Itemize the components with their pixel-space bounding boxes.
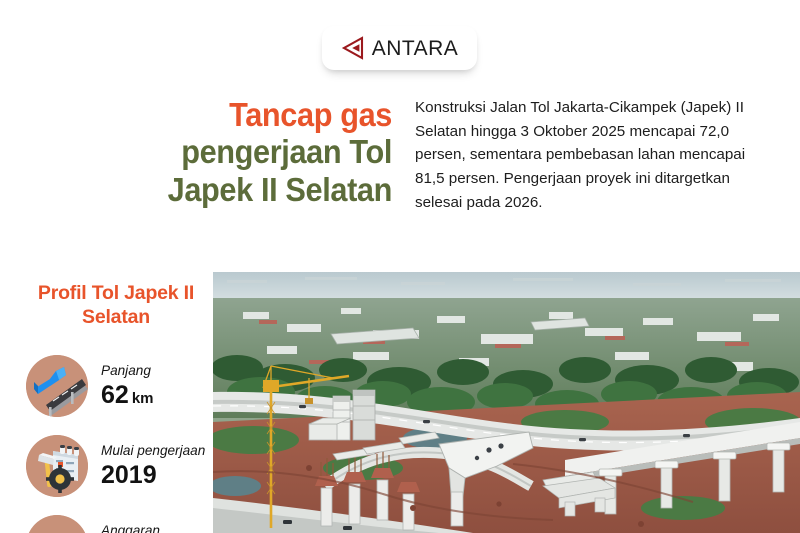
stat-label: Anggaran	[101, 523, 206, 533]
profile-panel-title: Profil Tol Japek II Selatan	[26, 282, 206, 330]
antara-wordmark: ANTARA	[372, 38, 459, 59]
infographic-page: ANTARA Tancap gas pengerjaan Tol Japek I…	[0, 0, 800, 533]
stat-row: Mulai pengerjaan 2019	[26, 432, 206, 500]
stat-row: Panjang 62km	[26, 352, 206, 420]
stat-text: Panjang 62km	[101, 363, 206, 408]
title-line-accent: Tancap gas	[46, 96, 392, 133]
stat-value: 2019	[101, 462, 206, 488]
stat-number: 2019	[101, 461, 157, 489]
antara-logo-chip[interactable]: ANTARA	[322, 26, 477, 70]
stat-value: 62km	[101, 382, 206, 408]
hero-illustration	[213, 272, 800, 533]
stat-label: Mulai pengerjaan	[101, 443, 206, 460]
profile-panel: Profil Tol Japek II Selatan	[26, 282, 206, 533]
budget-icon	[26, 515, 88, 533]
stat-row: Anggaran	[26, 512, 206, 533]
lead-paragraph: Konstruksi Jalan Tol Jakarta-Cikampek (J…	[415, 96, 765, 215]
title-line-two: pengerjaan Tol	[46, 133, 392, 170]
stat-number: 62	[101, 381, 129, 409]
title-line-three: Japek II Selatan	[46, 171, 392, 208]
hammer-schedule-gear-icon	[26, 435, 88, 497]
page-title: Tancap gas pengerjaan Tol Japek II Selat…	[46, 96, 392, 208]
antara-triangle-logo-icon	[341, 35, 367, 61]
stat-label: Panjang	[101, 363, 206, 380]
brand-header: ANTARA	[0, 0, 800, 92]
stat-text: Anggaran	[101, 523, 206, 533]
stat-text: Mulai pengerjaan 2019	[101, 443, 206, 488]
stat-unit: km	[132, 390, 154, 407]
highway-arrow-icon	[26, 355, 88, 417]
